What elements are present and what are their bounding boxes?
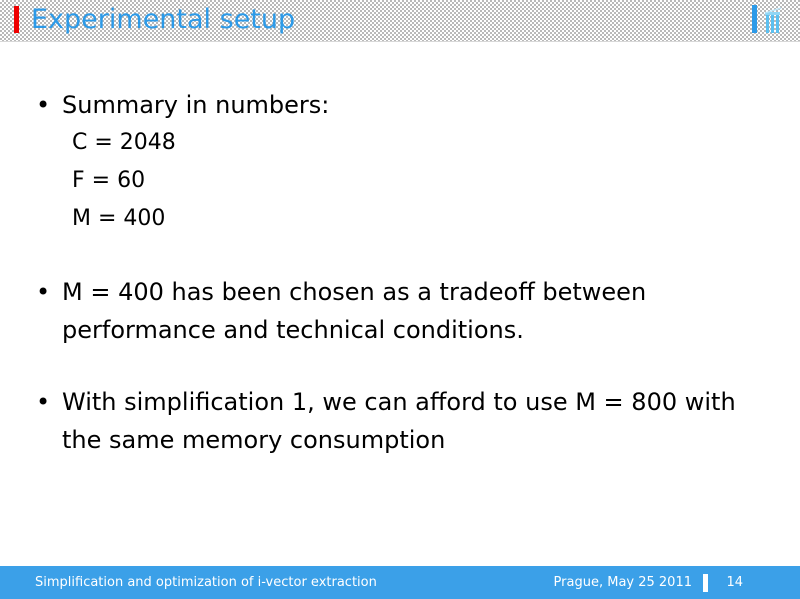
bullet-dot-icon: • [36, 86, 50, 124]
bullet-subline: C = 2048 [0, 124, 800, 162]
footer-separator [703, 574, 708, 592]
bullet-text: Summary in numbers: [62, 91, 329, 119]
header-divider [0, 41, 800, 42]
footer-page-number: 14 [726, 566, 743, 599]
bullet-item: • Summary in numbers: C = 2048 F = 60 M … [0, 86, 800, 238]
bullet-subline: F = 60 [0, 162, 800, 200]
bullet-row: • With simplification 1, we can afford t… [0, 383, 800, 459]
slide: Experimental setup • Summary in numbers:… [0, 0, 800, 599]
bullet-row: • M = 400 has been chosen as a tradeoff … [0, 273, 800, 349]
slide-body: • Summary in numbers: C = 2048 F = 60 M … [0, 86, 800, 459]
bullet-dot-icon: • [36, 273, 50, 311]
bullet-item: • With simplification 1, we can afford t… [0, 383, 800, 459]
bullet-row: • Summary in numbers: [0, 86, 800, 124]
spacer [0, 238, 800, 273]
slide-header: Experimental setup [0, 0, 800, 41]
bullet-text: With simplification 1, we can afford to … [62, 388, 736, 454]
but-fit-logo-icon [750, 4, 794, 36]
page-title: Experimental setup [31, 1, 295, 39]
spacer [0, 349, 800, 383]
footer-presentation-title: Simplification and optimization of i-vec… [35, 566, 377, 599]
bullet-dot-icon: • [36, 383, 50, 421]
slide-footer: Simplification and optimization of i-vec… [0, 566, 800, 599]
bullet-text: M = 400 has been chosen as a tradeoff be… [62, 278, 646, 344]
bullet-subline: M = 400 [0, 200, 800, 238]
but-fit-logo [750, 4, 794, 36]
bullet-item: • M = 400 has been chosen as a tradeoff … [0, 273, 800, 349]
title-marker-bar [14, 6, 19, 33]
footer-venue-date: Prague, May 25 2011 [554, 566, 692, 599]
